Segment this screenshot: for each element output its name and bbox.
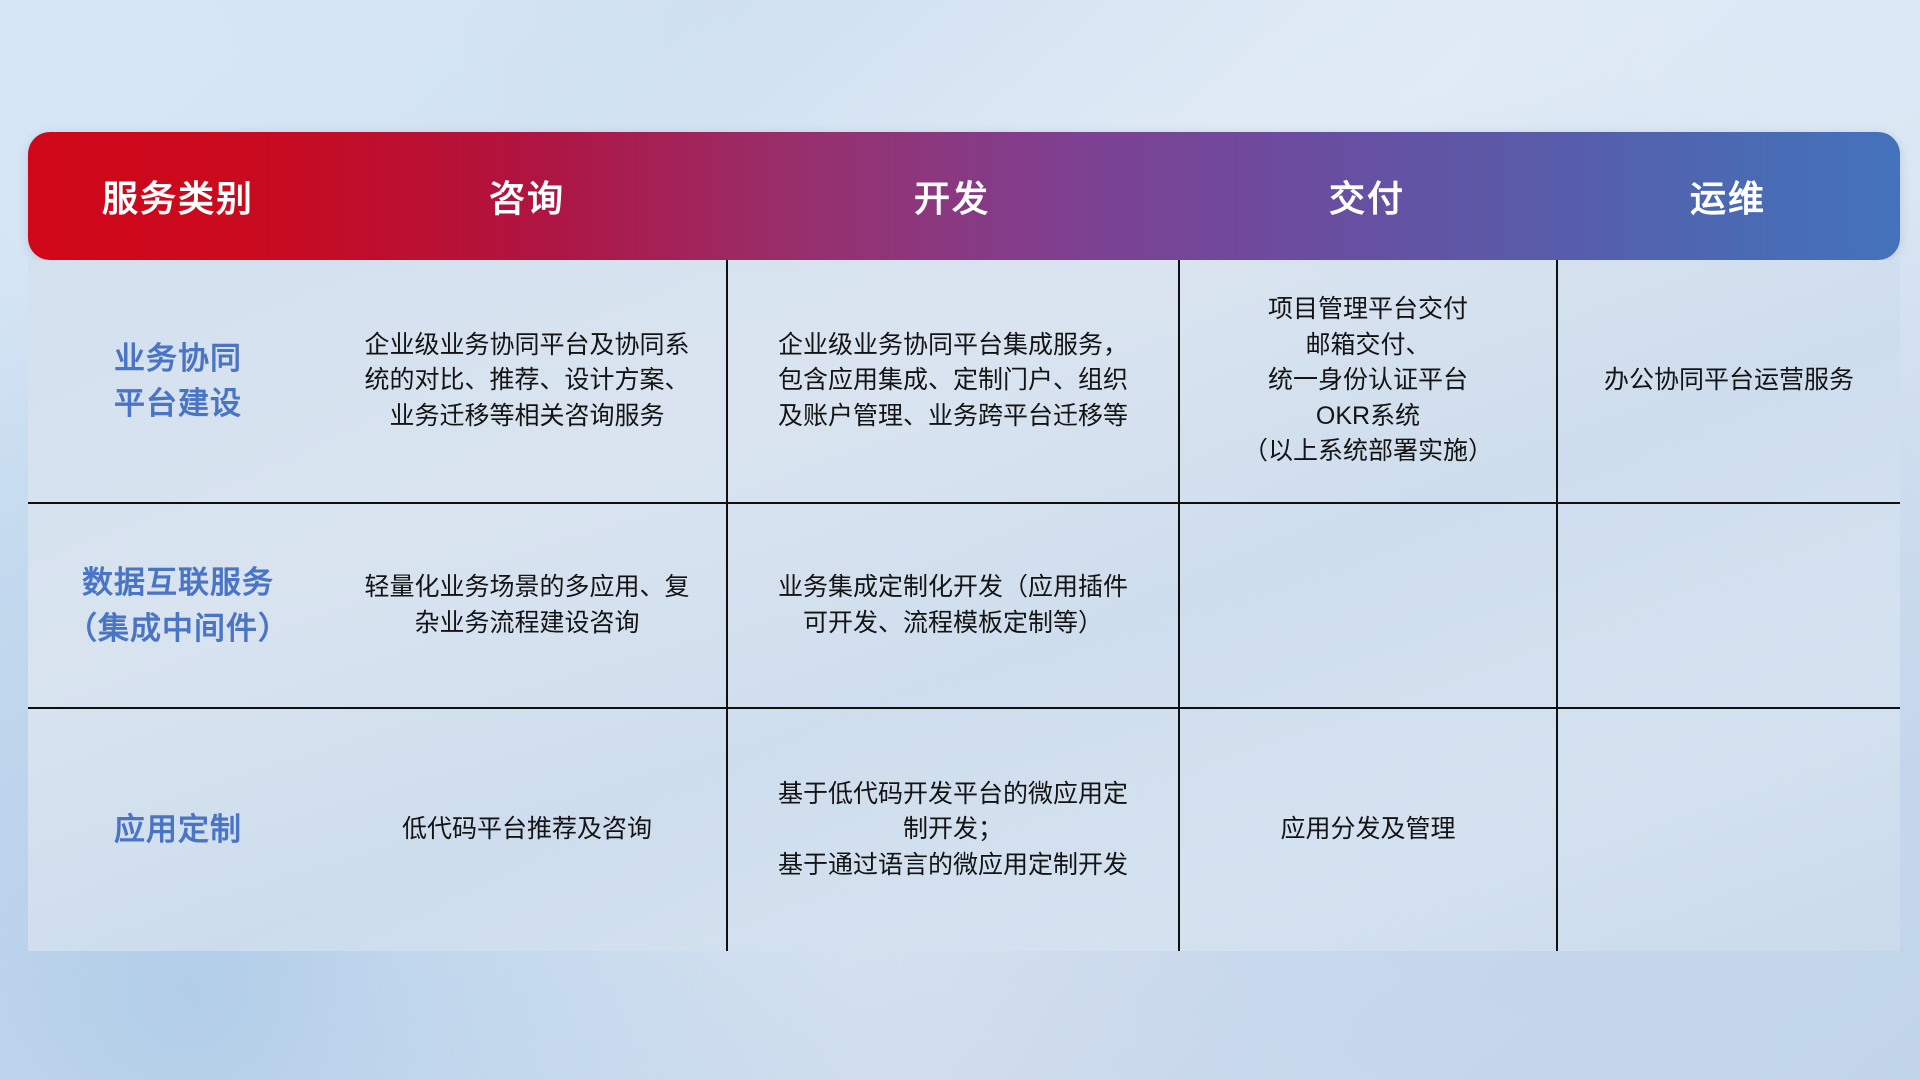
column-header-consulting: 咨询 bbox=[328, 170, 726, 222]
cell-data-interconnect-operations bbox=[1556, 504, 1900, 707]
row-label-data-interconnect-service: 数据互联服务 （集成中间件） bbox=[28, 504, 328, 707]
cell-data-interconnect-consulting: 轻量化业务场景的多应用、复 杂业务流程建设咨询 bbox=[328, 504, 726, 707]
table-row: 应用定制 低代码平台推荐及咨询 基于低代码开发平台的微应用定 制开发； 基于通过… bbox=[28, 707, 1900, 951]
cell-business-collaboration-consulting: 企业级业务协同平台及协同系 统的对比、推荐、设计方案、 业务迁移等相关咨询服务 bbox=[328, 260, 726, 502]
cell-business-collaboration-operations: 办公协同平台运营服务 bbox=[1556, 260, 1900, 502]
cell-application-customization-consulting: 低代码平台推荐及咨询 bbox=[328, 709, 726, 951]
table-header-row: 服务类别 咨询 开发 交付 运维 bbox=[28, 132, 1900, 260]
column-header-delivery: 交付 bbox=[1178, 170, 1556, 222]
cell-business-collaboration-delivery: 项目管理平台交付 邮箱交付、 统一身份认证平台 OKR系统 （以上系统部署实施） bbox=[1178, 260, 1556, 502]
table-body: 业务协同 平台建设 企业级业务协同平台及协同系 统的对比、推荐、设计方案、 业务… bbox=[28, 260, 1900, 951]
cell-business-collaboration-development: 企业级业务协同平台集成服务， 包含应用集成、定制门户、组织 及账户管理、业务跨平… bbox=[726, 260, 1178, 502]
table-row: 业务协同 平台建设 企业级业务协同平台及协同系 统的对比、推荐、设计方案、 业务… bbox=[28, 260, 1900, 502]
row-label-application-customization: 应用定制 bbox=[28, 709, 328, 951]
table-row: 数据互联服务 （集成中间件） 轻量化业务场景的多应用、复 杂业务流程建设咨询 业… bbox=[28, 502, 1900, 707]
cell-application-customization-development: 基于低代码开发平台的微应用定 制开发； 基于通过语言的微应用定制开发 bbox=[726, 709, 1178, 951]
slide-canvas: 服务类别 咨询 开发 交付 运维 业务协同 平台建设 企业级业务协同平台及协同系… bbox=[0, 0, 1920, 1080]
column-header-development: 开发 bbox=[726, 170, 1178, 222]
cell-application-customization-delivery: 应用分发及管理 bbox=[1178, 709, 1556, 951]
cell-application-customization-operations bbox=[1556, 709, 1900, 951]
column-header-service-category: 服务类别 bbox=[28, 170, 328, 222]
service-matrix-table: 服务类别 咨询 开发 交付 运维 业务协同 平台建设 企业级业务协同平台及协同系… bbox=[28, 132, 1900, 962]
column-header-operations: 运维 bbox=[1556, 170, 1900, 222]
row-label-business-collaboration-platform: 业务协同 平台建设 bbox=[28, 260, 328, 502]
cell-data-interconnect-development: 业务集成定制化开发（应用插件 可开发、流程模板定制等） bbox=[726, 504, 1178, 707]
cell-data-interconnect-delivery bbox=[1178, 504, 1556, 707]
